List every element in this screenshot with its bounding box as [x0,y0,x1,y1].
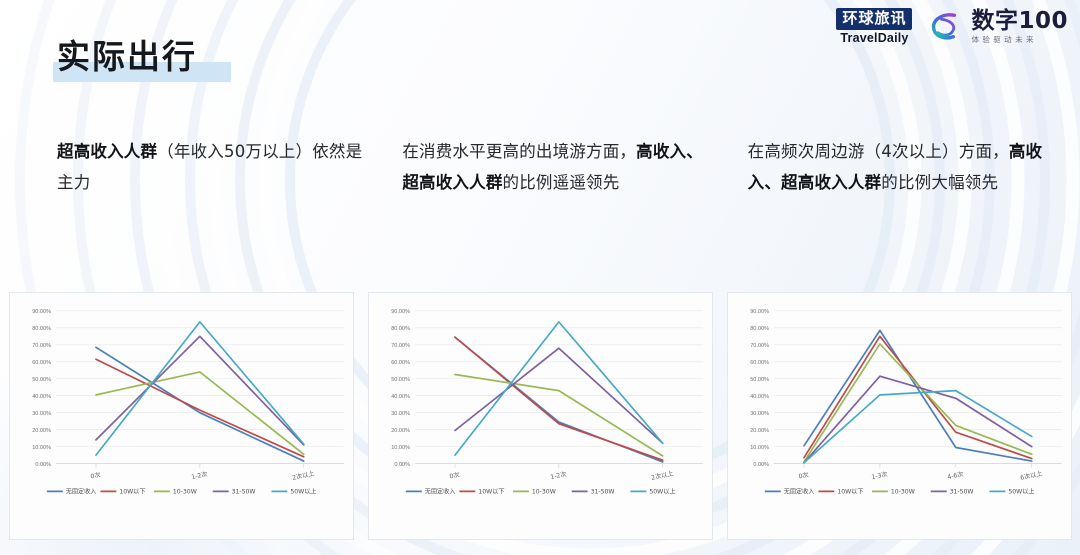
y-axis-tick-label: 30.00% [391,411,410,417]
shuzi100-logo-tagline: 体验驱动未来 [971,36,1068,44]
y-axis-tick-label: 40.00% [750,394,769,400]
x-axis-tick-label: 0次 [798,471,810,481]
y-axis-tick-label: 90.00% [750,309,769,315]
y-axis-tick-label: 30.00% [750,411,769,417]
y-axis-tick-label: 40.00% [32,394,51,400]
insight-columns: 超高收入人群（年收入50万以上）依然是主力 在消费水平更高的出境游方面，高收入、… [0,136,1080,198]
legend-label-31-50W[interactable]: 31-50W [591,489,615,496]
line-chart-outbound[interactable]: 0.00%10.00%20.00%30.00%40.00%50.00%60.00… [369,293,712,539]
insight-column-1: 超高收入人群（年收入50万以上）依然是主力 [57,136,389,198]
page-title: 实际出行 [57,30,197,78]
y-axis-tick-label: 70.00% [391,343,410,349]
x-axis-tick-label: 2次以上 [651,469,675,481]
chart-panels: 0.00%10.00%20.00%30.00%40.00%50.00%60.00… [0,292,1080,547]
y-axis-tick-label: 90.00% [32,309,51,315]
y-axis-tick-label: 60.00% [750,360,769,366]
legend-label-10W以下[interactable]: 10W以下 [478,489,504,496]
line-chart-local[interactable]: 0.00%10.00%20.00%30.00%40.00%50.00%60.00… [728,293,1071,539]
series-line-50W以上 [804,391,1032,463]
y-axis-tick-label: 70.00% [32,343,51,349]
legend-label-10W以下[interactable]: 10W以下 [119,489,145,496]
y-axis-tick-label: 70.00% [750,343,769,349]
y-axis-tick-label: 20.00% [391,428,410,434]
x-axis-tick-label: 4-6次 [947,470,964,481]
y-axis-tick-label: 20.00% [750,428,769,434]
text-run-0: 超高收入人群 [57,142,157,161]
legend-label-10-30W[interactable]: 10-30W [891,489,915,496]
y-axis-tick-label: 90.00% [391,309,410,315]
y-axis-tick-label: 10.00% [750,445,769,451]
series-line-无固定收入 [96,347,304,461]
insight-text-2: 在消费水平更高的出境游方面，高收入、超高收入人群的比例遥遥领先 [402,136,710,198]
traveldaily-logo-cn: 环球旅讯 [836,8,912,30]
y-axis-tick-label: 20.00% [32,428,51,434]
legend-label-31-50W[interactable]: 31-50W [950,489,974,496]
series-line-无固定收入 [455,337,663,462]
chart-panel-local: 0.00%10.00%20.00%30.00%40.00%50.00%60.00… [727,292,1072,540]
insight-text-3: 在高频次周边游（4次以上）方面，高收入、超高收入人群的比例大幅领先 [748,136,1056,198]
y-axis-tick-label: 80.00% [391,326,410,332]
text-run-0: 在消费水平更高的出境游方面， [402,142,636,161]
legend-label-10W以下[interactable]: 10W以下 [837,489,863,496]
traveldaily-logo: 环球旅讯 TravelDaily [836,8,912,45]
insight-column-2: 在消费水平更高的出境游方面，高收入、超高收入人群的比例遥遥领先 [402,136,734,198]
y-axis-tick-label: 50.00% [32,377,51,383]
text-run-2: 的比例遥遥领先 [503,173,620,192]
x-axis-tick-label: 0次 [90,471,102,481]
text-run-2: 的比例大幅领先 [881,173,998,192]
legend-label-10-30W[interactable]: 10-30W [173,489,197,496]
x-axis-tick-label: 1-3次 [871,470,888,481]
legend-label-50W以上[interactable]: 50W以上 [649,488,675,496]
legend-label-无固定收入[interactable]: 无固定收入 [425,488,456,496]
x-axis-tick-label: 1-2次 [550,470,567,481]
series-line-10W以下 [804,336,1032,458]
shuzi100-logo-main: 数字100 [971,10,1068,33]
page-title-block: 实际出行 [57,30,197,78]
y-axis-tick-label: 10.00% [32,445,51,451]
series-line-50W以上 [455,322,663,455]
y-axis-tick-label: 60.00% [391,360,410,366]
chart-panel-domestic: 0.00%10.00%20.00%30.00%40.00%50.00%60.00… [9,292,354,540]
chart-panel-outbound: 0.00%10.00%20.00%30.00%40.00%50.00%60.00… [368,292,713,540]
legend-label-无固定收入[interactable]: 无固定收入 [66,488,97,496]
legend-label-无固定收入[interactable]: 无固定收入 [784,488,815,496]
y-axis-tick-label: 60.00% [32,360,51,366]
traveldaily-logo-en: TravelDaily [840,32,908,45]
insight-column-3: 在高频次周边游（4次以上）方面，高收入、超高收入人群的比例大幅领先 [748,136,1080,198]
legend-label-50W以上[interactable]: 50W以上 [1008,488,1034,496]
x-axis-tick-label: 1-2次 [191,470,208,481]
x-axis-tick-label: 6次以上 [1020,469,1044,481]
y-axis-tick-label: 50.00% [391,377,410,383]
legend-label-50W以上[interactable]: 50W以上 [290,488,316,496]
logo-group: 环球旅讯 TravelDaily 数字100 体验驱动未来 [836,8,1068,45]
shuzi100-logo-text: 数字100 体验驱动未来 [971,10,1068,44]
y-axis-tick-label: 80.00% [32,326,51,332]
x-axis-tick-label: 0次 [449,471,461,481]
y-axis-tick-label: 30.00% [32,411,51,417]
legend-label-10-30W[interactable]: 10-30W [532,489,556,496]
shuzi100-logo: 数字100 体验驱动未来 [928,8,1068,44]
insight-text-1: 超高收入人群（年收入50万以上）依然是主力 [57,136,365,198]
series-line-10W以下 [455,337,663,460]
legend-label-31-50W[interactable]: 31-50W [232,489,256,496]
y-axis-tick-label: 0.00% [753,462,769,468]
y-axis-tick-label: 40.00% [391,394,410,400]
y-axis-tick-label: 0.00% [394,462,410,468]
x-axis-tick-label: 2次以上 [292,469,316,481]
text-run-0: 在高频次周边游（4次以上）方面， [748,142,1009,161]
y-axis-tick-label: 50.00% [750,377,769,383]
y-axis-tick-label: 10.00% [391,445,410,451]
slide-header: 实际出行 环球旅讯 TravelDaily 数字100 体验驱动 [0,0,1080,120]
line-chart-domestic[interactable]: 0.00%10.00%20.00%30.00%40.00%50.00%60.00… [10,293,353,539]
shuzi100-swirl-icon [928,8,964,44]
y-axis-tick-label: 80.00% [750,326,769,332]
y-axis-tick-label: 0.00% [35,462,51,468]
